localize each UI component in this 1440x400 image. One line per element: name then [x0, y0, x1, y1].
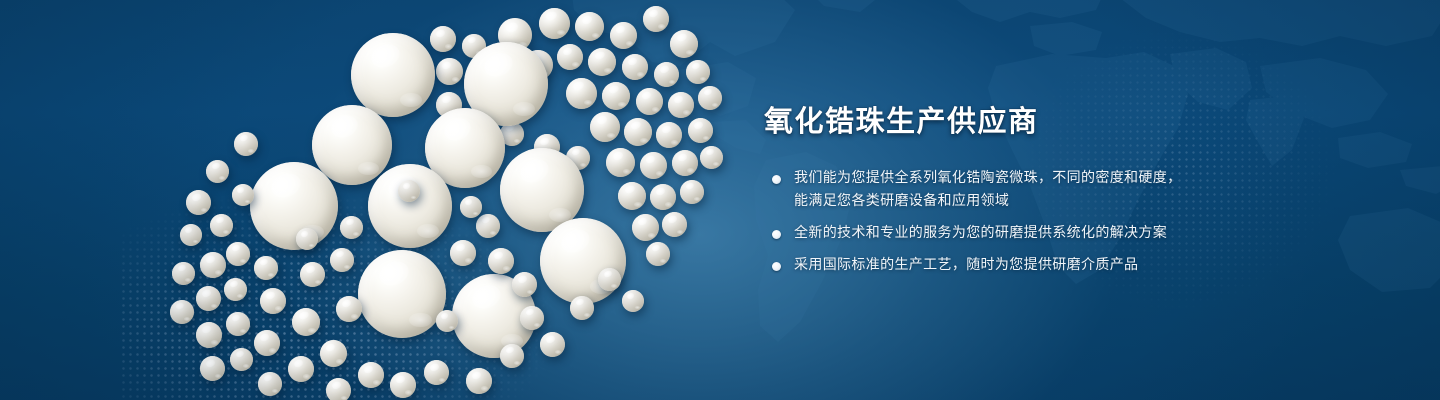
bullet-item-1: 我们能为您提供全系列氧化锆陶瓷微珠，不同的密度和硬度， 能满足您各类研磨设备和应… — [764, 167, 1234, 213]
bullet-item-3-line-1: 采用国际标准的生产工艺，随时为您提供研磨介质产品 — [794, 254, 1234, 277]
dot-bullet-icon — [772, 230, 781, 239]
bullet-item-1-line-1: 我们能为您提供全系列氧化锆陶瓷微珠，不同的密度和硬度， — [794, 167, 1234, 190]
banner-headline: 氧化锆珠生产供应商 — [764, 104, 1234, 139]
bullet-item-2: 全新的技术和专业的服务为您的研磨提供系统化的解决方案 — [764, 222, 1234, 245]
banner-content: 氧化锆珠生产供应商 我们能为您提供全系列氧化锆陶瓷微珠，不同的密度和硬度， 能满… — [764, 104, 1234, 277]
dot-bullet-icon — [772, 175, 781, 184]
hero-banner: 氧化锆珠生产供应商 我们能为您提供全系列氧化锆陶瓷微珠，不同的密度和硬度， 能满… — [0, 0, 1440, 400]
dot-bullet-icon — [772, 262, 781, 271]
bullet-item-3: 采用国际标准的生产工艺，随时为您提供研磨介质产品 — [764, 254, 1234, 277]
banner-bullet-list: 我们能为您提供全系列氧化锆陶瓷微珠，不同的密度和硬度， 能满足您各类研磨设备和应… — [764, 167, 1234, 277]
bullet-item-1-line-2: 能满足您各类研磨设备和应用领域 — [794, 190, 1234, 213]
bullet-item-2-line-1: 全新的技术和专业的服务为您的研磨提供系统化的解决方案 — [794, 222, 1234, 245]
